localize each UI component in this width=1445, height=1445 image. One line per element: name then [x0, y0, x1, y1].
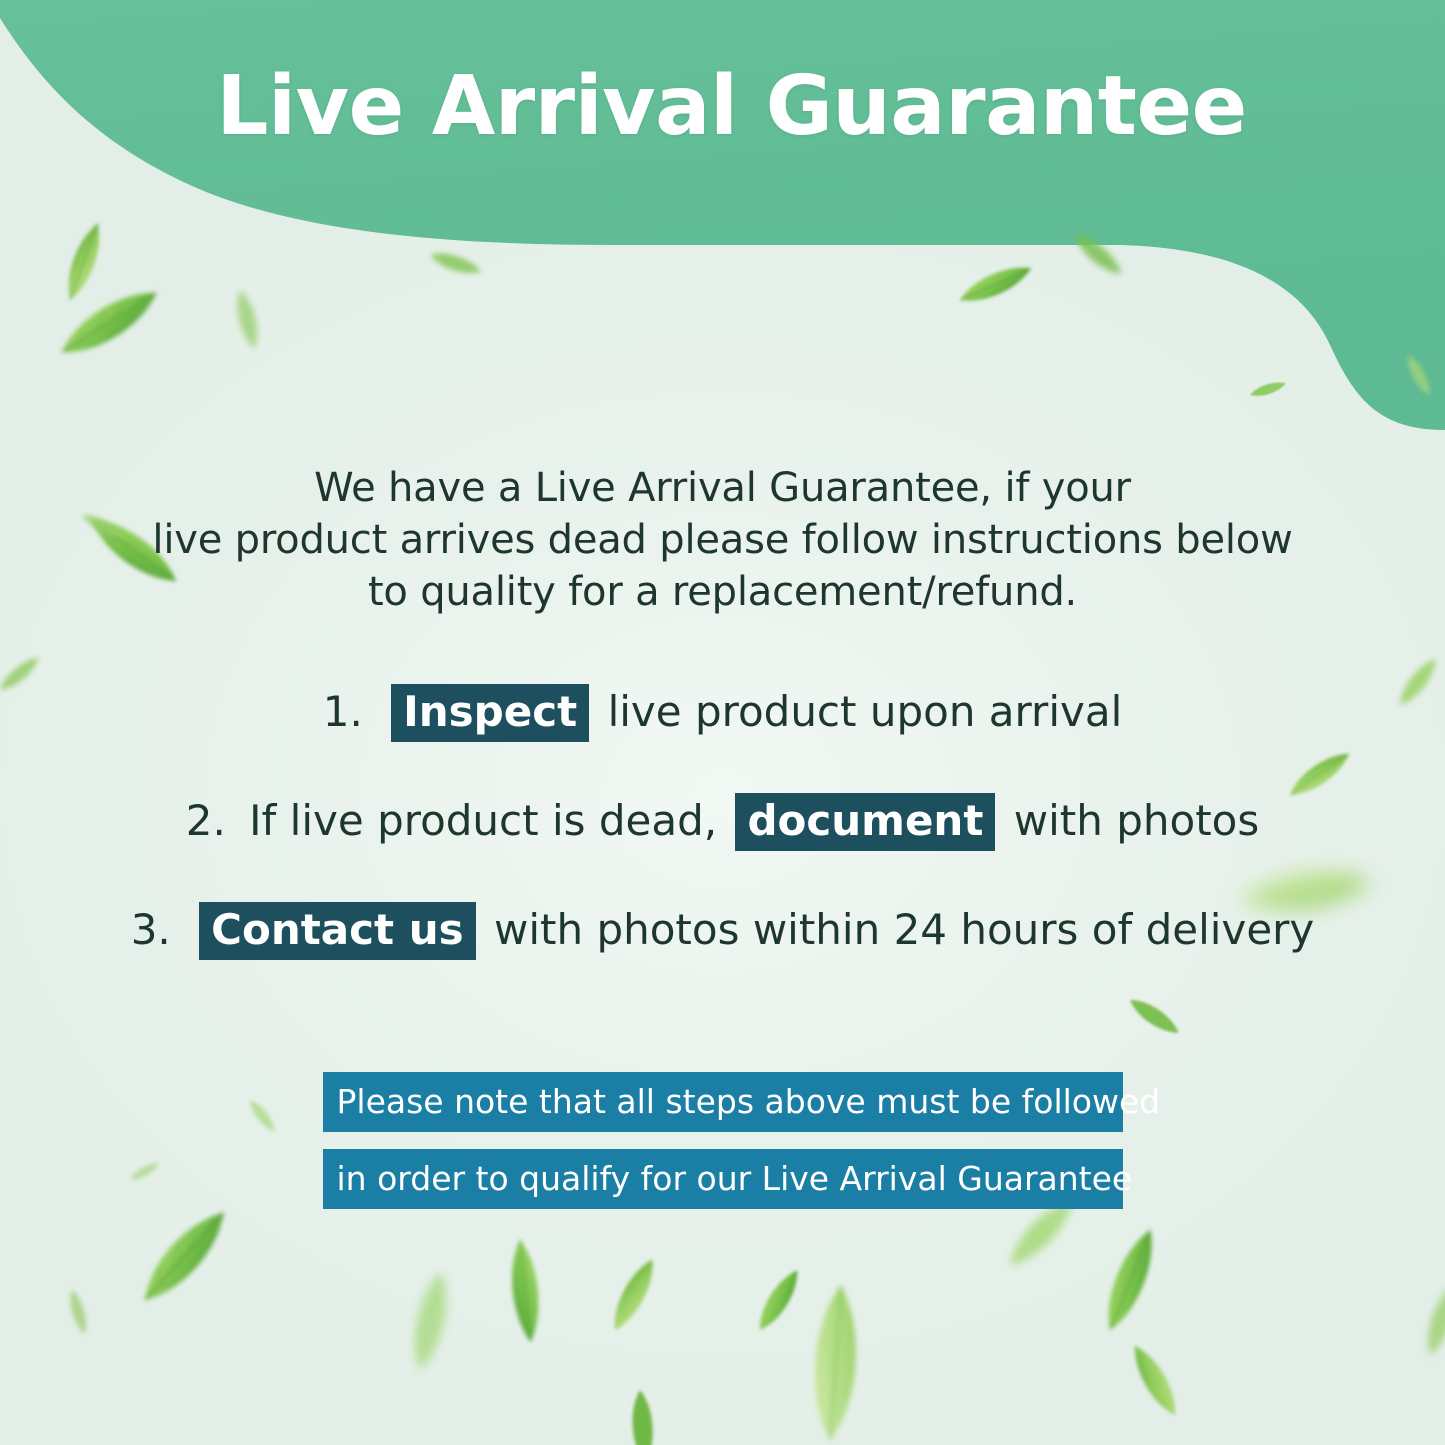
leaf-icon	[1097, 1225, 1163, 1336]
step-3-number: 3.	[131, 905, 184, 954]
leaf-icon	[810, 1284, 861, 1441]
page-title: Live Arrival Guarantee	[0, 66, 1445, 148]
leaf-icon	[60, 220, 108, 304]
leaf-icon	[606, 1254, 662, 1334]
note-banner: Please note that all steps above must be…	[0, 1072, 1445, 1226]
intro-line-2: live product arrives dead please follow …	[0, 514, 1445, 566]
leaf-icon	[630, 1389, 655, 1445]
step-2-highlight[interactable]: document	[735, 793, 995, 851]
step-2-pre: If live product is dead,	[249, 796, 730, 845]
leaf-icon	[1421, 1284, 1445, 1358]
leaf-icon	[1126, 1340, 1184, 1420]
step-item-2: 2. If live product is dead, document wit…	[0, 793, 1445, 851]
leaf-icon	[1070, 229, 1127, 281]
leaf-icon	[508, 1239, 544, 1344]
step-1-number: 1.	[323, 687, 376, 736]
leaf-icon	[428, 248, 484, 278]
leaf-icon	[1403, 352, 1435, 398]
poster-canvas: Live Arrival Guarantee	[0, 0, 1445, 1445]
step-1-post: live product upon arrival	[594, 687, 1122, 736]
intro-paragraph: We have a Live Arrival Guarantee, if you…	[0, 462, 1445, 618]
step-3-post: with photos within 24 hours of delivery	[481, 905, 1315, 954]
steps-list: 1. Inspect live product upon arrival 2. …	[0, 684, 1445, 1011]
note-line-2: in order to qualify for our Live Arrival…	[323, 1149, 1123, 1209]
step-item-1: 1. Inspect live product upon arrival	[0, 684, 1445, 742]
leaf-icon	[232, 288, 262, 351]
step-1-highlight[interactable]: Inspect	[391, 684, 589, 742]
leaf-icon	[66, 1288, 90, 1335]
leaf-icon	[54, 280, 165, 365]
leaf-icon	[956, 259, 1036, 309]
leaf-icon	[752, 1265, 805, 1335]
step-2-post: with photos	[1000, 796, 1259, 845]
note-line-1: Please note that all steps above must be…	[323, 1072, 1123, 1132]
step-3-highlight[interactable]: Contact us	[199, 902, 476, 960]
intro-line-1: We have a Live Arrival Guarantee, if you…	[0, 462, 1445, 514]
intro-line-3: to quality for a replacement/refund.	[0, 566, 1445, 618]
leaf-icon	[1248, 379, 1287, 400]
leaf-icon	[407, 1269, 454, 1373]
step-2-number: 2.	[186, 796, 239, 845]
step-item-3: 3. Contact us with photos within 24 hour…	[0, 902, 1445, 960]
